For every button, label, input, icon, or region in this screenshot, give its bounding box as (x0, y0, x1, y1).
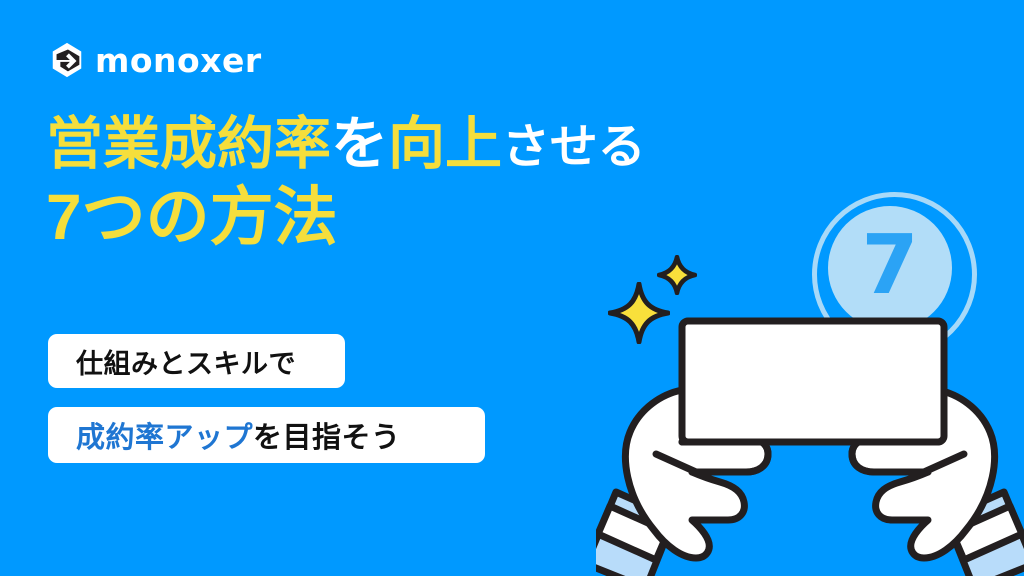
headline-seg-3: 向上 (388, 112, 502, 176)
headline-seg-2: を (331, 112, 388, 176)
subhead-pills: 仕組みとスキルで 成約率アップを目指そう (48, 334, 485, 463)
slide-canvas: monoxer 営業成約率を向上させる 7つの方法 仕組みとスキルで 成約率アッ… (0, 0, 1024, 576)
headline-seg-4: させる (502, 121, 646, 174)
pill-item-2: 成約率アップを目指そう (48, 407, 485, 463)
headline-block: 営業成約率を向上させる 7つの方法 (46, 116, 746, 249)
pill-item-1: 仕組みとスキルで (48, 334, 345, 388)
hands-holding-card-illustration (596, 296, 1024, 576)
brand-logo: monoxer (48, 40, 262, 80)
pill-2-text-highlight: 成約率アップ (76, 414, 253, 456)
sparkle-icon-small (657, 255, 697, 295)
headline-line-2: 7つの方法 (46, 185, 746, 249)
headline-line-1: 営業成約率を向上させる (46, 116, 746, 173)
monoxer-hexagon-arrow-icon (48, 41, 86, 79)
headline-seg-1: 営業成約率 (46, 112, 331, 176)
blank-card (682, 321, 944, 442)
pill-2-text-rest: を目指そう (253, 414, 401, 456)
pill-1-text: 仕組みとスキルで (76, 342, 296, 381)
brand-wordmark: monoxer (95, 44, 262, 77)
